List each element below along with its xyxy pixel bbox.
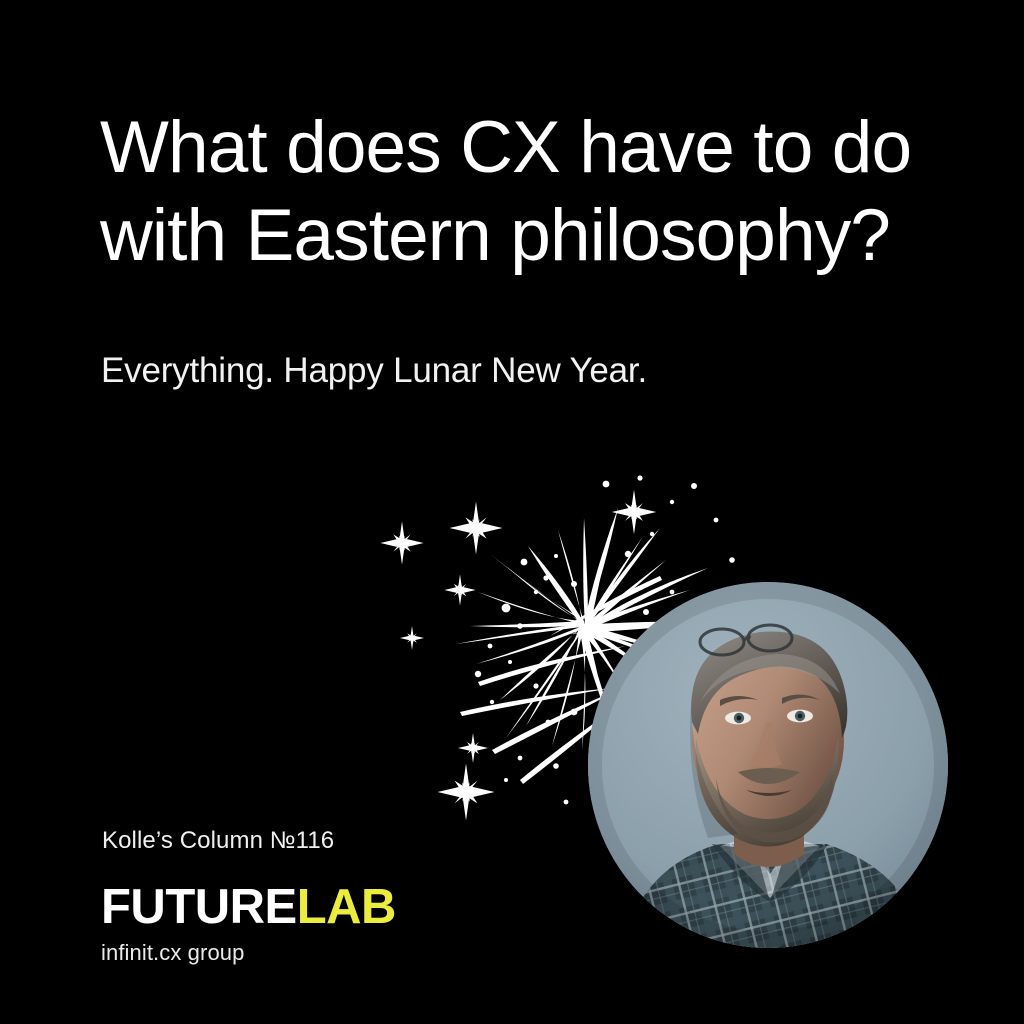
column-issue-label: Kolle’s Column №116	[102, 826, 334, 856]
subtitle-text: Everything. Happy Lunar New Year.	[101, 349, 647, 393]
logo-wordmark: FUTURELAB	[101, 880, 396, 934]
portrait-illustration	[588, 582, 948, 948]
author-portrait-avatar	[588, 582, 948, 948]
social-post-canvas: What does CX have to do with Eastern phi…	[0, 0, 1024, 1024]
page-title: What does CX have to do with Eastern phi…	[100, 104, 930, 280]
futurelab-logo: FUTURELAB infinit.cx group	[101, 880, 396, 966]
logo-word-future: FUTURE	[101, 880, 297, 934]
logo-tagline: infinit.cx group	[101, 940, 396, 966]
logo-word-lab: LAB	[297, 880, 396, 934]
